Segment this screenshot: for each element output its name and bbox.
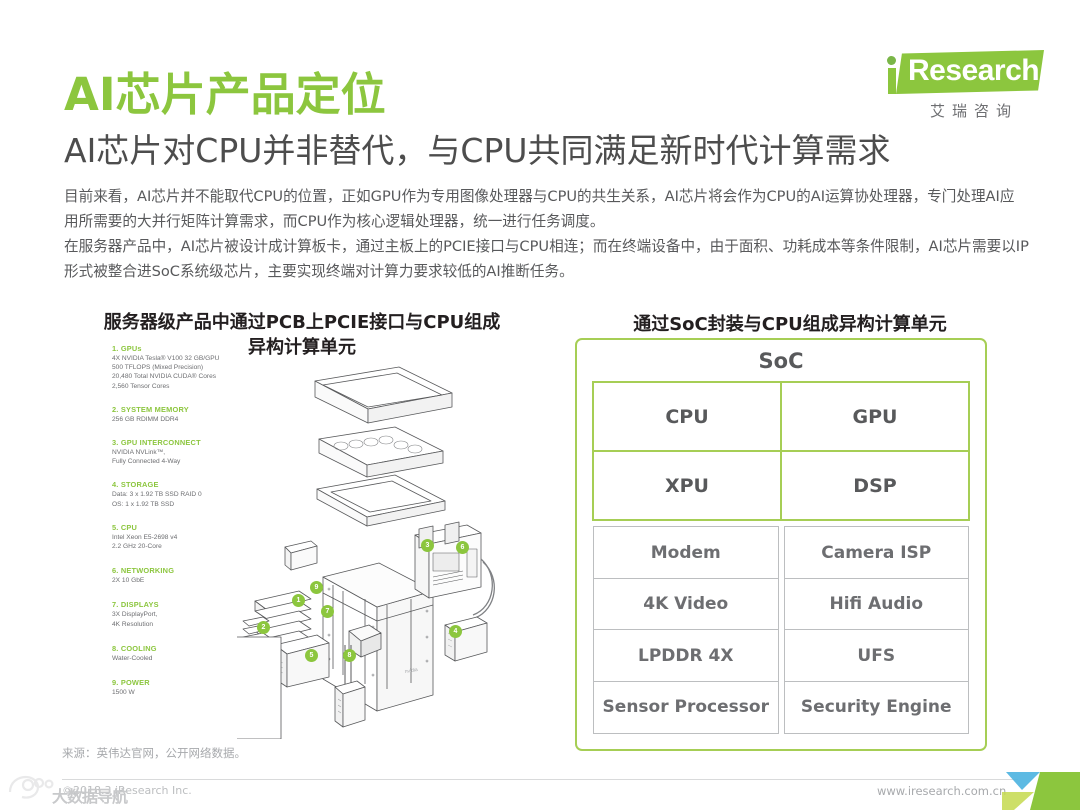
- soc-diagram: SoC CPU GPU XPU DSP Modem Camera ISP 4K …: [575, 338, 987, 751]
- legend-title: 3. GPU INTERCONNECT: [112, 438, 242, 447]
- legend-line: Data: 3 x 1.92 TB SSD RAID 0: [112, 490, 242, 499]
- legend-line: Intel Xeon E5-2698 v4: [112, 533, 242, 542]
- body-text: 目前来看，AI芯片并不能取代CPU的位置，正如GPU作为专用图像处理器与CPU的…: [64, 184, 1029, 284]
- legend-item: 6. NETWORKING 2X 10 GbE: [112, 566, 242, 585]
- logo-i-dot-icon: [887, 56, 896, 65]
- right-panel-heading: 通过SoC封装与CPU组成异构计算单元: [570, 310, 1010, 336]
- logo-chinese-name: 艾瑞咨询: [900, 100, 1048, 121]
- callout-badge-9: 9: [310, 581, 323, 594]
- soc-cell-ufs[interactable]: UFS: [784, 629, 970, 682]
- body-paragraph-2: 在服务器产品中，AI芯片被设计成计算板卡，通过主板上的PCIE接口与CPU相连；…: [64, 234, 1029, 284]
- legend-line: 500 TFLOPS (Mixed Precision): [112, 363, 242, 372]
- callout-badge-6: 6: [456, 541, 469, 554]
- watermark-text: 大数据导航: [52, 783, 127, 807]
- legend-line: 4K Resolution: [112, 620, 242, 629]
- website-url[interactable]: www.iresearch.com.cn: [877, 784, 1006, 798]
- legend-item: 1. GPUs 4X NVIDIA Tesla® V100 32 GB/GPU …: [112, 344, 242, 391]
- soc-cell-cpu[interactable]: CPU: [592, 381, 782, 452]
- server-chassis-artwork: nvidia 1 2 3 4 5 6 7 8 9: [237, 349, 542, 739]
- body-paragraph-1: 目前来看，AI芯片并不能取代CPU的位置，正如GPU作为专用图像处理器与CPU的…: [64, 184, 1029, 234]
- callout-badge-2: 2: [257, 621, 270, 634]
- soc-cell-xpu[interactable]: XPU: [592, 450, 782, 521]
- callout-badge-4: 4: [449, 625, 462, 638]
- legend-line: 4X NVIDIA Tesla® V100 32 GB/GPU: [112, 354, 242, 363]
- legend-line: 1500 W: [112, 688, 242, 697]
- legend-item: 3. GPU INTERCONNECT NVIDIA NVLink™, Full…: [112, 438, 242, 466]
- source-note: 来源：英伟达官网，公开网络数据。: [62, 745, 246, 761]
- soc-cell-modem[interactable]: Modem: [593, 526, 779, 579]
- server-spec-legend: 1. GPUs 4X NVIDIA Tesla® V100 32 GB/GPU …: [112, 344, 242, 706]
- legend-line: Water-Cooled: [112, 654, 242, 663]
- soc-cell-camera-isp[interactable]: Camera ISP: [784, 526, 970, 579]
- logo-wordmark: Research: [908, 54, 1039, 88]
- server-exploded-diagram: 1. GPUs 4X NVIDIA Tesla® V100 32 GB/GPU …: [112, 344, 542, 744]
- soc-cell-security-engine[interactable]: Security Engine: [784, 681, 970, 734]
- page-number: 6: [1045, 781, 1055, 799]
- legend-line: 256 GB RDIMM DDR4: [112, 415, 242, 424]
- logo-i-stem-icon: [888, 68, 896, 94]
- left-panel-heading-line1: 服务器级产品中通过PCB上PCIE接口与CPU组成: [62, 310, 542, 335]
- soc-core-grid: CPU GPU XPU DSP: [593, 382, 969, 520]
- legend-line: 2.2 GHz 20-Core: [112, 542, 242, 551]
- legend-item: 8. COOLING Water-Cooled: [112, 644, 242, 663]
- server-artwork-svg: nvidia: [237, 349, 542, 739]
- page-title: AI芯片产品定位: [64, 58, 386, 123]
- soc-cell-lpddr-4x[interactable]: LPDDR 4X: [593, 629, 779, 682]
- legend-title: 9. POWER: [112, 678, 242, 687]
- soc-cell-gpu[interactable]: GPU: [780, 381, 970, 452]
- callout-badge-1: 1: [292, 594, 305, 607]
- soc-label: SoC: [577, 349, 985, 373]
- legend-item: 7. DISPLAYS 3X DisplayPort, 4K Resolutio…: [112, 600, 242, 628]
- slide-canvas: Research 艾瑞咨询 AI芯片产品定位 AI芯片对CPU并非替代，与CPU…: [0, 0, 1080, 810]
- legend-item: 2. SYSTEM MEMORY 256 GB RDIMM DDR4: [112, 405, 242, 424]
- legend-item: 4. STORAGE Data: 3 x 1.92 TB SSD RAID 0 …: [112, 480, 242, 508]
- soc-cell-sensor-processor[interactable]: Sensor Processor: [593, 681, 779, 734]
- soc-block-grid: Modem Camera ISP 4K Video Hifi Audio LPD…: [593, 526, 969, 732]
- corner-decoration-icon: [1000, 772, 1080, 810]
- legend-item: 9. POWER 1500 W: [112, 678, 242, 697]
- callout-badge-5: 5: [305, 649, 318, 662]
- soc-cell-dsp[interactable]: DSP: [780, 450, 970, 521]
- legend-line: 2,560 Tensor Cores: [112, 382, 242, 391]
- callout-badge-3: 3: [421, 539, 434, 552]
- legend-line: 2X 10 GbE: [112, 576, 242, 585]
- logo-mark: Research: [878, 48, 1048, 100]
- page-subtitle: AI芯片对CPU并非替代，与CPU共同满足新时代计算需求: [64, 124, 891, 172]
- legend-title: 5. CPU: [112, 523, 242, 532]
- callout-badge-7: 7: [321, 605, 334, 618]
- legend-title: 4. STORAGE: [112, 480, 242, 489]
- iresearch-logo: Research 艾瑞咨询: [878, 48, 1048, 126]
- footer-divider: [62, 779, 1018, 780]
- callout-badge-8: 8: [343, 649, 356, 662]
- legend-line: OS: 1 x 1.92 TB SSD: [112, 500, 242, 509]
- legend-title: 1. GPUs: [112, 344, 242, 353]
- legend-title: 7. DISPLAYS: [112, 600, 242, 609]
- legend-item: 5. CPU Intel Xeon E5-2698 v4 2.2 GHz 20-…: [112, 523, 242, 551]
- legend-line: NVIDIA NVLink™,: [112, 448, 242, 457]
- legend-line: Fully Connected 4-Way: [112, 457, 242, 466]
- soc-cell-4k-video[interactable]: 4K Video: [593, 578, 779, 631]
- legend-title: 8. COOLING: [112, 644, 242, 653]
- legend-title: 6. NETWORKING: [112, 566, 242, 575]
- legend-title: 2. SYSTEM MEMORY: [112, 405, 242, 414]
- soc-cell-hifi-audio[interactable]: Hifi Audio: [784, 578, 970, 631]
- legend-line: 3X DisplayPort,: [112, 610, 242, 619]
- legend-line: 20,480 Total NVIDIA CUDA® Cores: [112, 372, 242, 381]
